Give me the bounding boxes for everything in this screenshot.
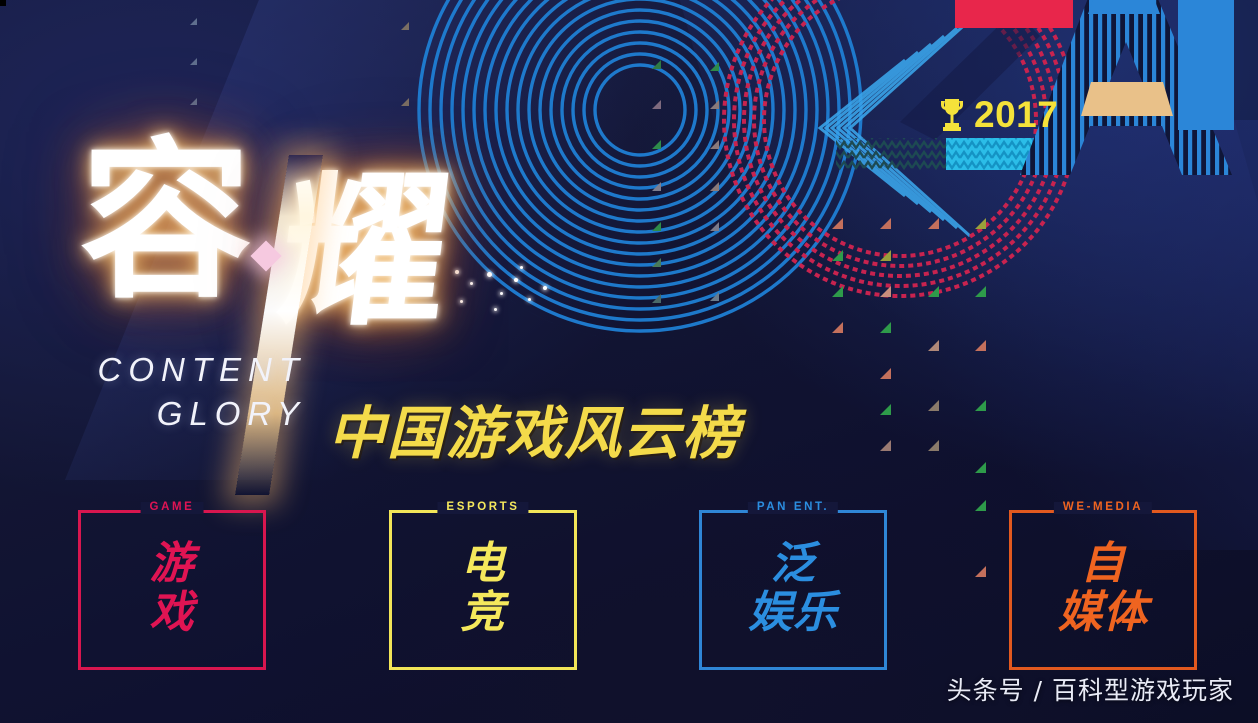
category-word-wemedia-line1: 自 xyxy=(1012,539,1194,588)
category-word-game-line2: 戏 xyxy=(81,588,263,637)
year-badge: 2017 xyxy=(938,96,1058,133)
zigzag-bar-cyan xyxy=(946,138,1032,170)
category-word-esports-line1: 电 xyxy=(392,539,574,588)
poster-canvas: 容 耀 CONTENT GLORY 中国游戏风云榜 2017 GAME 游 戏 … xyxy=(0,0,1258,723)
category-word-panent: 泛 娱乐 xyxy=(702,539,884,638)
category-box-esports[interactable]: ESPORTS 电 竞 xyxy=(389,510,577,670)
category-word-game-line1: 游 xyxy=(81,539,263,588)
red-block xyxy=(955,0,1073,28)
letter-a-apex xyxy=(1088,0,1160,14)
subtitle-text: 中国游戏风云榜 xyxy=(328,388,741,470)
category-label-esports: ESPORTS xyxy=(437,502,528,514)
category-word-esports: 电 竞 xyxy=(392,539,574,638)
category-label-panent: PAN ENT. xyxy=(748,502,838,514)
light-wedge-corner xyxy=(840,120,1258,550)
wordmark-char-yao: 耀 xyxy=(272,170,458,336)
category-box-game[interactable]: GAME 游 戏 xyxy=(78,510,266,670)
category-label-game: GAME xyxy=(141,502,204,514)
category-label-wemedia: WE-MEDIA xyxy=(1054,502,1152,514)
red-ring-letter-c xyxy=(724,0,1076,296)
latin-line-glory: GLORY xyxy=(36,392,306,436)
category-word-game: 游 戏 xyxy=(81,539,263,638)
category-word-wemedia-line2: 媒体 xyxy=(1012,588,1194,637)
latin-wordmark: CONTENT GLORY xyxy=(36,348,306,435)
latin-line-content: CONTENT xyxy=(36,348,306,392)
year-text: 2017 xyxy=(974,96,1058,133)
category-word-wemedia: 自 媒体 xyxy=(1012,539,1194,638)
zigzag-bar-cyan-texture xyxy=(946,138,1032,170)
wordmark-char-rong: 容 xyxy=(80,136,252,308)
solid-cyan-block xyxy=(1032,138,1057,170)
letter-a-crossbar xyxy=(1081,82,1173,116)
category-word-panent-line1: 泛 xyxy=(702,539,884,588)
category-box-wemedia[interactable]: WE-MEDIA 自 媒体 xyxy=(1009,510,1197,670)
letter-i-graphic xyxy=(1178,0,1234,130)
zigzag-bar-dark xyxy=(836,138,946,170)
category-word-panent-line2: 娱乐 xyxy=(702,588,884,637)
watermark-text: 头条号 / 百科型游戏玩家 xyxy=(947,671,1234,707)
light-wedge-right xyxy=(680,0,1258,560)
category-box-panent[interactable]: PAN ENT. 泛 娱乐 xyxy=(699,510,887,670)
trophy-icon xyxy=(938,97,966,133)
category-word-esports-line2: 竞 xyxy=(392,588,574,637)
